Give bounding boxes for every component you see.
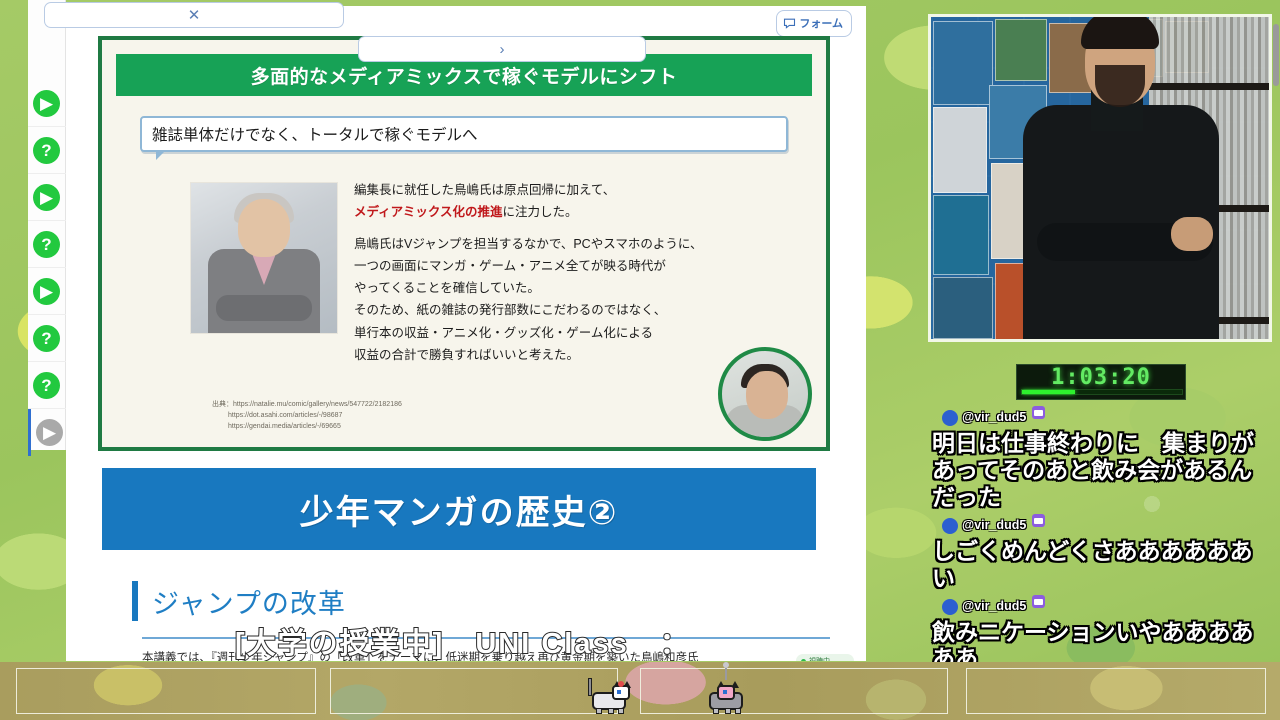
slide-media-mix: 多面的なメディアミックスで稼ぐモデルにシフト 雑誌単体だけでなく、トータルで稼ぐ… xyxy=(98,36,830,451)
chat-username[interactable]: @vir_dud5 xyxy=(962,404,1026,430)
chat-message-list: @vir_dud5 明日は仕事終わりに 集まりがあってそのあと飲み会があるんだっ… xyxy=(928,404,1272,664)
slide3-title: ジャンプの改革 xyxy=(152,582,346,621)
live-viewers-badge: 視聴中 xyxy=(796,654,854,661)
slide-document-panel[interactable]: ジャンプの改革 フォーム 多面的なメディアミックスで稼ぐモデルにシフト 雑誌単体… xyxy=(66,6,866,661)
slide1-body-text: 編集長に就任した鳥嶋氏は原点回帰に加えて、 メディアミックス化の推進に注力した。… xyxy=(354,180,802,367)
chat-username[interactable]: @vir_dud5 xyxy=(962,512,1026,538)
sidebar-item-7[interactable]: ? xyxy=(28,362,66,409)
sidebar-item-2[interactable]: ? xyxy=(28,127,66,174)
chat-text: しごくめんどくさああああああい xyxy=(932,538,1268,592)
slide3-accent-bar xyxy=(132,581,138,621)
chat-overlay: 1:03:20 @vir_dud5 明日は仕事終わりに 集まりがあってそのあと飲… xyxy=(928,348,1272,664)
slide1-callout-box: 雑誌単体だけでなく、トータルで稼ぐモデルへ xyxy=(140,116,788,152)
form-button[interactable]: フォーム xyxy=(776,10,852,37)
bottom-decoration-strip xyxy=(0,662,1280,720)
slide1-p2-l5: 単行本の収益・アニメ化・グッズ化・ゲーム化による xyxy=(354,326,653,340)
slide1-p2-l3: やってくることを確信していた。 xyxy=(354,281,540,295)
slide1-p2-l4: そのため、紙の雑誌の発行部数にこだわるのではなく、 xyxy=(354,303,666,317)
live-dot-icon xyxy=(801,659,806,662)
class-timer: 1:03:20 xyxy=(1016,364,1186,400)
slide1-p2-l6: 収益の合計で勝負すればいいと考えた。 xyxy=(354,348,579,362)
document-scrollbar[interactable] xyxy=(858,28,866,661)
slide2-title: 少年マンガの歴史② xyxy=(300,485,619,534)
bottom-panel-2 xyxy=(330,668,618,714)
chat-message: @vir_dud5 しごくめんどくさああああああい xyxy=(928,512,1272,593)
speech-balloon-icon xyxy=(783,18,796,29)
play-icon: ▶ xyxy=(36,419,63,446)
portrait-photo xyxy=(190,182,338,334)
sidebar-item-1[interactable]: ▶ xyxy=(28,80,66,127)
bottom-panel-1 xyxy=(16,668,316,714)
question-icon: ? xyxy=(33,372,60,399)
slide1-p2-l1: 鳥嶋氏はVジャンプを担当するなかで、PCやスマホのように、 xyxy=(354,237,702,251)
chat-avatar xyxy=(942,410,958,426)
slide1-sources: 出典：https://natalie.mu/comic/gallery/news… xyxy=(212,400,402,433)
timer-value: 1:03:20 xyxy=(1051,365,1151,391)
bottom-panel-3 xyxy=(640,668,948,714)
sidebar-item-4[interactable]: ? xyxy=(28,221,66,268)
form-button-label: フォーム xyxy=(799,15,843,31)
slide1-header-text: 多面的なメディアミックスで稼ぐモデルにシフト xyxy=(251,62,678,89)
sidebar-item-5[interactable]: ▶ xyxy=(28,268,66,315)
source-line-3: https://gendai.media/articles/-/69665 xyxy=(212,422,402,433)
document-scrollbar-thumb[interactable] xyxy=(1273,24,1279,86)
source-line-1: 出典：https://natalie.mu/comic/gallery/news… xyxy=(212,400,402,411)
play-icon: ▶ xyxy=(33,90,60,117)
sidebar-item-6[interactable]: ? xyxy=(28,315,66,362)
chat-username[interactable]: @vir_dud5 xyxy=(962,593,1026,619)
question-icon: ? xyxy=(33,137,60,164)
slide1-p2-l2: 一つの画面にマンガ・ゲーム・アニメ全てが映る時代が xyxy=(354,259,666,273)
slide-jump-reform: ジャンプの改革 本講義では、『週刊少年ジャンプ』の「改革」をテーマに、低迷期を乗… xyxy=(132,581,832,621)
stream-caption-overlay: [大学の授業中] UNI Class ： xyxy=(235,620,691,662)
slide1-p1-a: 編集長に就任した鳥嶋氏は原点回帰に加えて、 xyxy=(354,183,615,197)
question-icon: ? xyxy=(33,325,60,352)
slide1-p1-b: に注力した。 xyxy=(503,205,578,219)
chat-message: @vir_dud5 明日は仕事終わりに 集まりがあってそのあと飲み会があるんだっ… xyxy=(928,404,1272,512)
subscriber-badge-icon xyxy=(1032,595,1045,608)
sidebar-item-8[interactable]: ▶ xyxy=(28,409,66,456)
chat-avatar xyxy=(942,599,958,615)
timer-progress-fill xyxy=(1022,390,1075,394)
chat-text: 明日は仕事終わりに 集まりがあってそのあと飲み会があるんだった xyxy=(932,430,1268,511)
slide1-callout-text: 雑誌単体だけでなく、トータルで稼ぐモデルへ xyxy=(152,123,478,145)
pixel-cat-sprite xyxy=(588,678,632,714)
webcam-feed xyxy=(928,14,1272,342)
slide1-p1-highlight: メディアミックス化の推進 xyxy=(354,205,503,219)
live-label: 視聴中 xyxy=(809,656,830,661)
chat-message: @vir_dud5 飲みニケーションいやああああああ xyxy=(928,593,1272,664)
close-button[interactable]: ✕ xyxy=(44,2,344,28)
stream-screen: ✕ › ▶ ? ▶ ? ▶ ? ? ▶ ジャンプの改革 xyxy=(0,0,1280,720)
timer-progress-track xyxy=(1021,389,1183,395)
subscriber-badge-icon xyxy=(1032,406,1045,419)
play-icon: ▶ xyxy=(33,184,60,211)
subscriber-badge-icon xyxy=(1032,514,1045,527)
slide-section-title: 少年マンガの歴史② xyxy=(102,468,816,550)
pixel-cat-sprite xyxy=(705,678,749,714)
sidebar-item-3[interactable]: ▶ xyxy=(28,174,66,221)
question-icon: ? xyxy=(33,231,60,258)
chat-avatar xyxy=(942,518,958,534)
presenter-avatar xyxy=(718,347,812,441)
expand-sidebar-button[interactable]: › xyxy=(358,36,646,62)
slide-sidebar-rail: ✕ › ▶ ? ▶ ? ▶ ? ? ▶ xyxy=(28,0,66,450)
chevron-right-icon: › xyxy=(500,42,505,57)
close-icon: ✕ xyxy=(188,8,201,23)
bottom-panel-4 xyxy=(966,668,1266,714)
chat-text: 飲みニケーションいやああああああ xyxy=(932,619,1268,664)
source-line-2: https://dot.asahi.com/articles/-/98687 xyxy=(212,411,402,422)
play-icon: ▶ xyxy=(33,278,60,305)
